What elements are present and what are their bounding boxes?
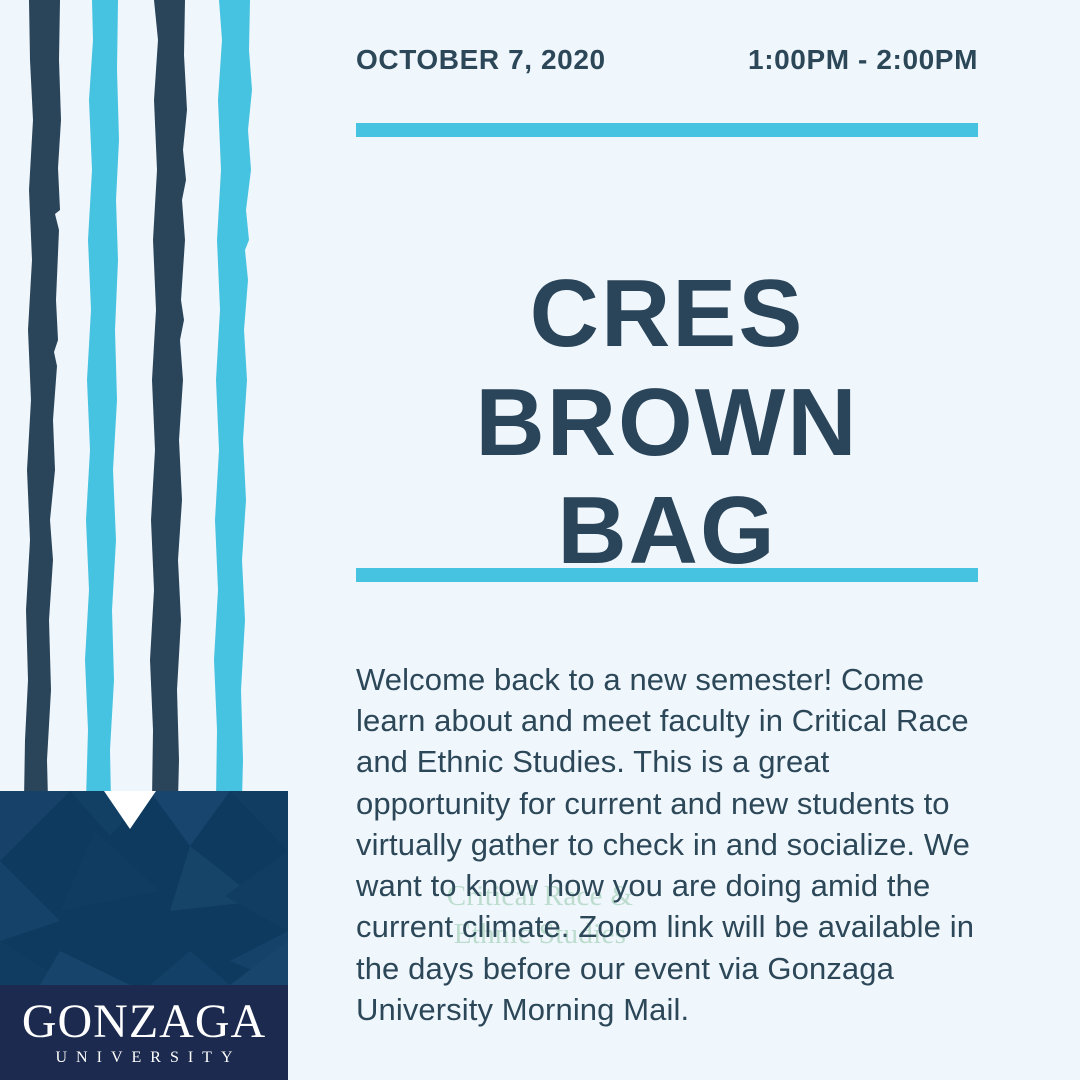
stripe-navy-2-shape (150, 0, 187, 800)
gonzaga-university-subtext: UNIVERSITY (0, 1050, 288, 1066)
event-meta-row: OCTOBER 7, 2020 1:00PM - 2:00PM (356, 44, 978, 76)
stripe-cyan-2-shape (214, 0, 252, 800)
divider-rule-bottom (356, 568, 978, 582)
event-time: 1:00PM - 2:00PM (748, 44, 978, 76)
page-title: CRES BROWN BAG (356, 260, 978, 585)
gonzaga-wordmark: GONZAGA (0, 998, 288, 1046)
content-column: OCTOBER 7, 2020 1:00PM - 2:00PM CRES BRO… (356, 0, 978, 1080)
stripe-navy-1-shape (24, 0, 61, 800)
divider-rule-top (356, 123, 978, 137)
brush-stripes-decoration (0, 0, 300, 800)
event-description: Welcome back to a new semester! Come lea… (356, 659, 990, 1030)
panel-notch-triangle (104, 791, 156, 829)
stripe-cyan-1-shape (85, 0, 119, 800)
gonzaga-logo: GONZAGA UNIVERSITY (0, 998, 288, 1066)
title-line-2: BROWN (356, 369, 978, 477)
event-flyer: GONZAGA UNIVERSITY Critical Race & Ethni… (0, 0, 1080, 1080)
title-line-1: CRES (356, 260, 978, 368)
event-date: OCTOBER 7, 2020 (356, 44, 606, 76)
